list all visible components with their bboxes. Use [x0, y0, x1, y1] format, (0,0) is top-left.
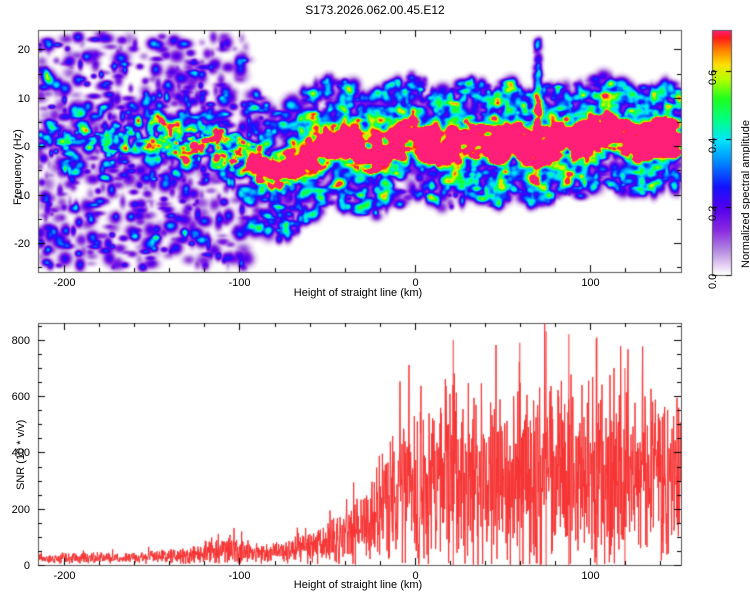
- colorbar-label: Normalized spectral amplitude: [741, 120, 750, 268]
- spectrogram-ytick-label: -10: [0, 191, 30, 202]
- spectrogram-ytick-label: 10: [0, 94, 30, 105]
- figure-root: S173.2026.062.00.45.E12 Height of straig…: [0, 0, 750, 600]
- snr-ytick-label: 0: [0, 561, 30, 572]
- spectrogram-xtick-label: -200: [25, 278, 105, 289]
- spectrogram-xtick-label: 100: [551, 278, 631, 289]
- spectrogram-xtick-label: 0: [376, 278, 456, 289]
- snr-ytick-label: 800: [0, 336, 30, 347]
- snr-xtick-label: 0: [376, 571, 456, 582]
- spectrogram-xtick-label: -100: [200, 278, 280, 289]
- spectrogram-x-axis-label: Height of straight line (km): [0, 288, 716, 299]
- colorbar-tick-label: 0.4: [708, 137, 719, 152]
- colorbar-tick-label: 0.0: [708, 273, 719, 288]
- spectrogram-ytick-label: 20: [0, 45, 30, 56]
- snr-ytick-label: 600: [0, 392, 30, 403]
- spectrogram-ytick-label: 0: [0, 142, 30, 153]
- snr-xtick-label: 100: [551, 571, 631, 582]
- page-title: S173.2026.062.00.45.E12: [0, 4, 750, 16]
- snr-ytick-label: 200: [0, 505, 30, 516]
- colorbar-tick-label: 0.2: [708, 205, 719, 220]
- figure-canvas: [0, 0, 750, 600]
- snr-xtick-label: -100: [200, 571, 280, 582]
- snr-ytick-label: 400: [0, 448, 30, 459]
- snr-xtick-label: -200: [25, 571, 105, 582]
- colorbar-tick-label: 0.6: [708, 69, 719, 84]
- spectrogram-ytick-label: -20: [0, 239, 30, 250]
